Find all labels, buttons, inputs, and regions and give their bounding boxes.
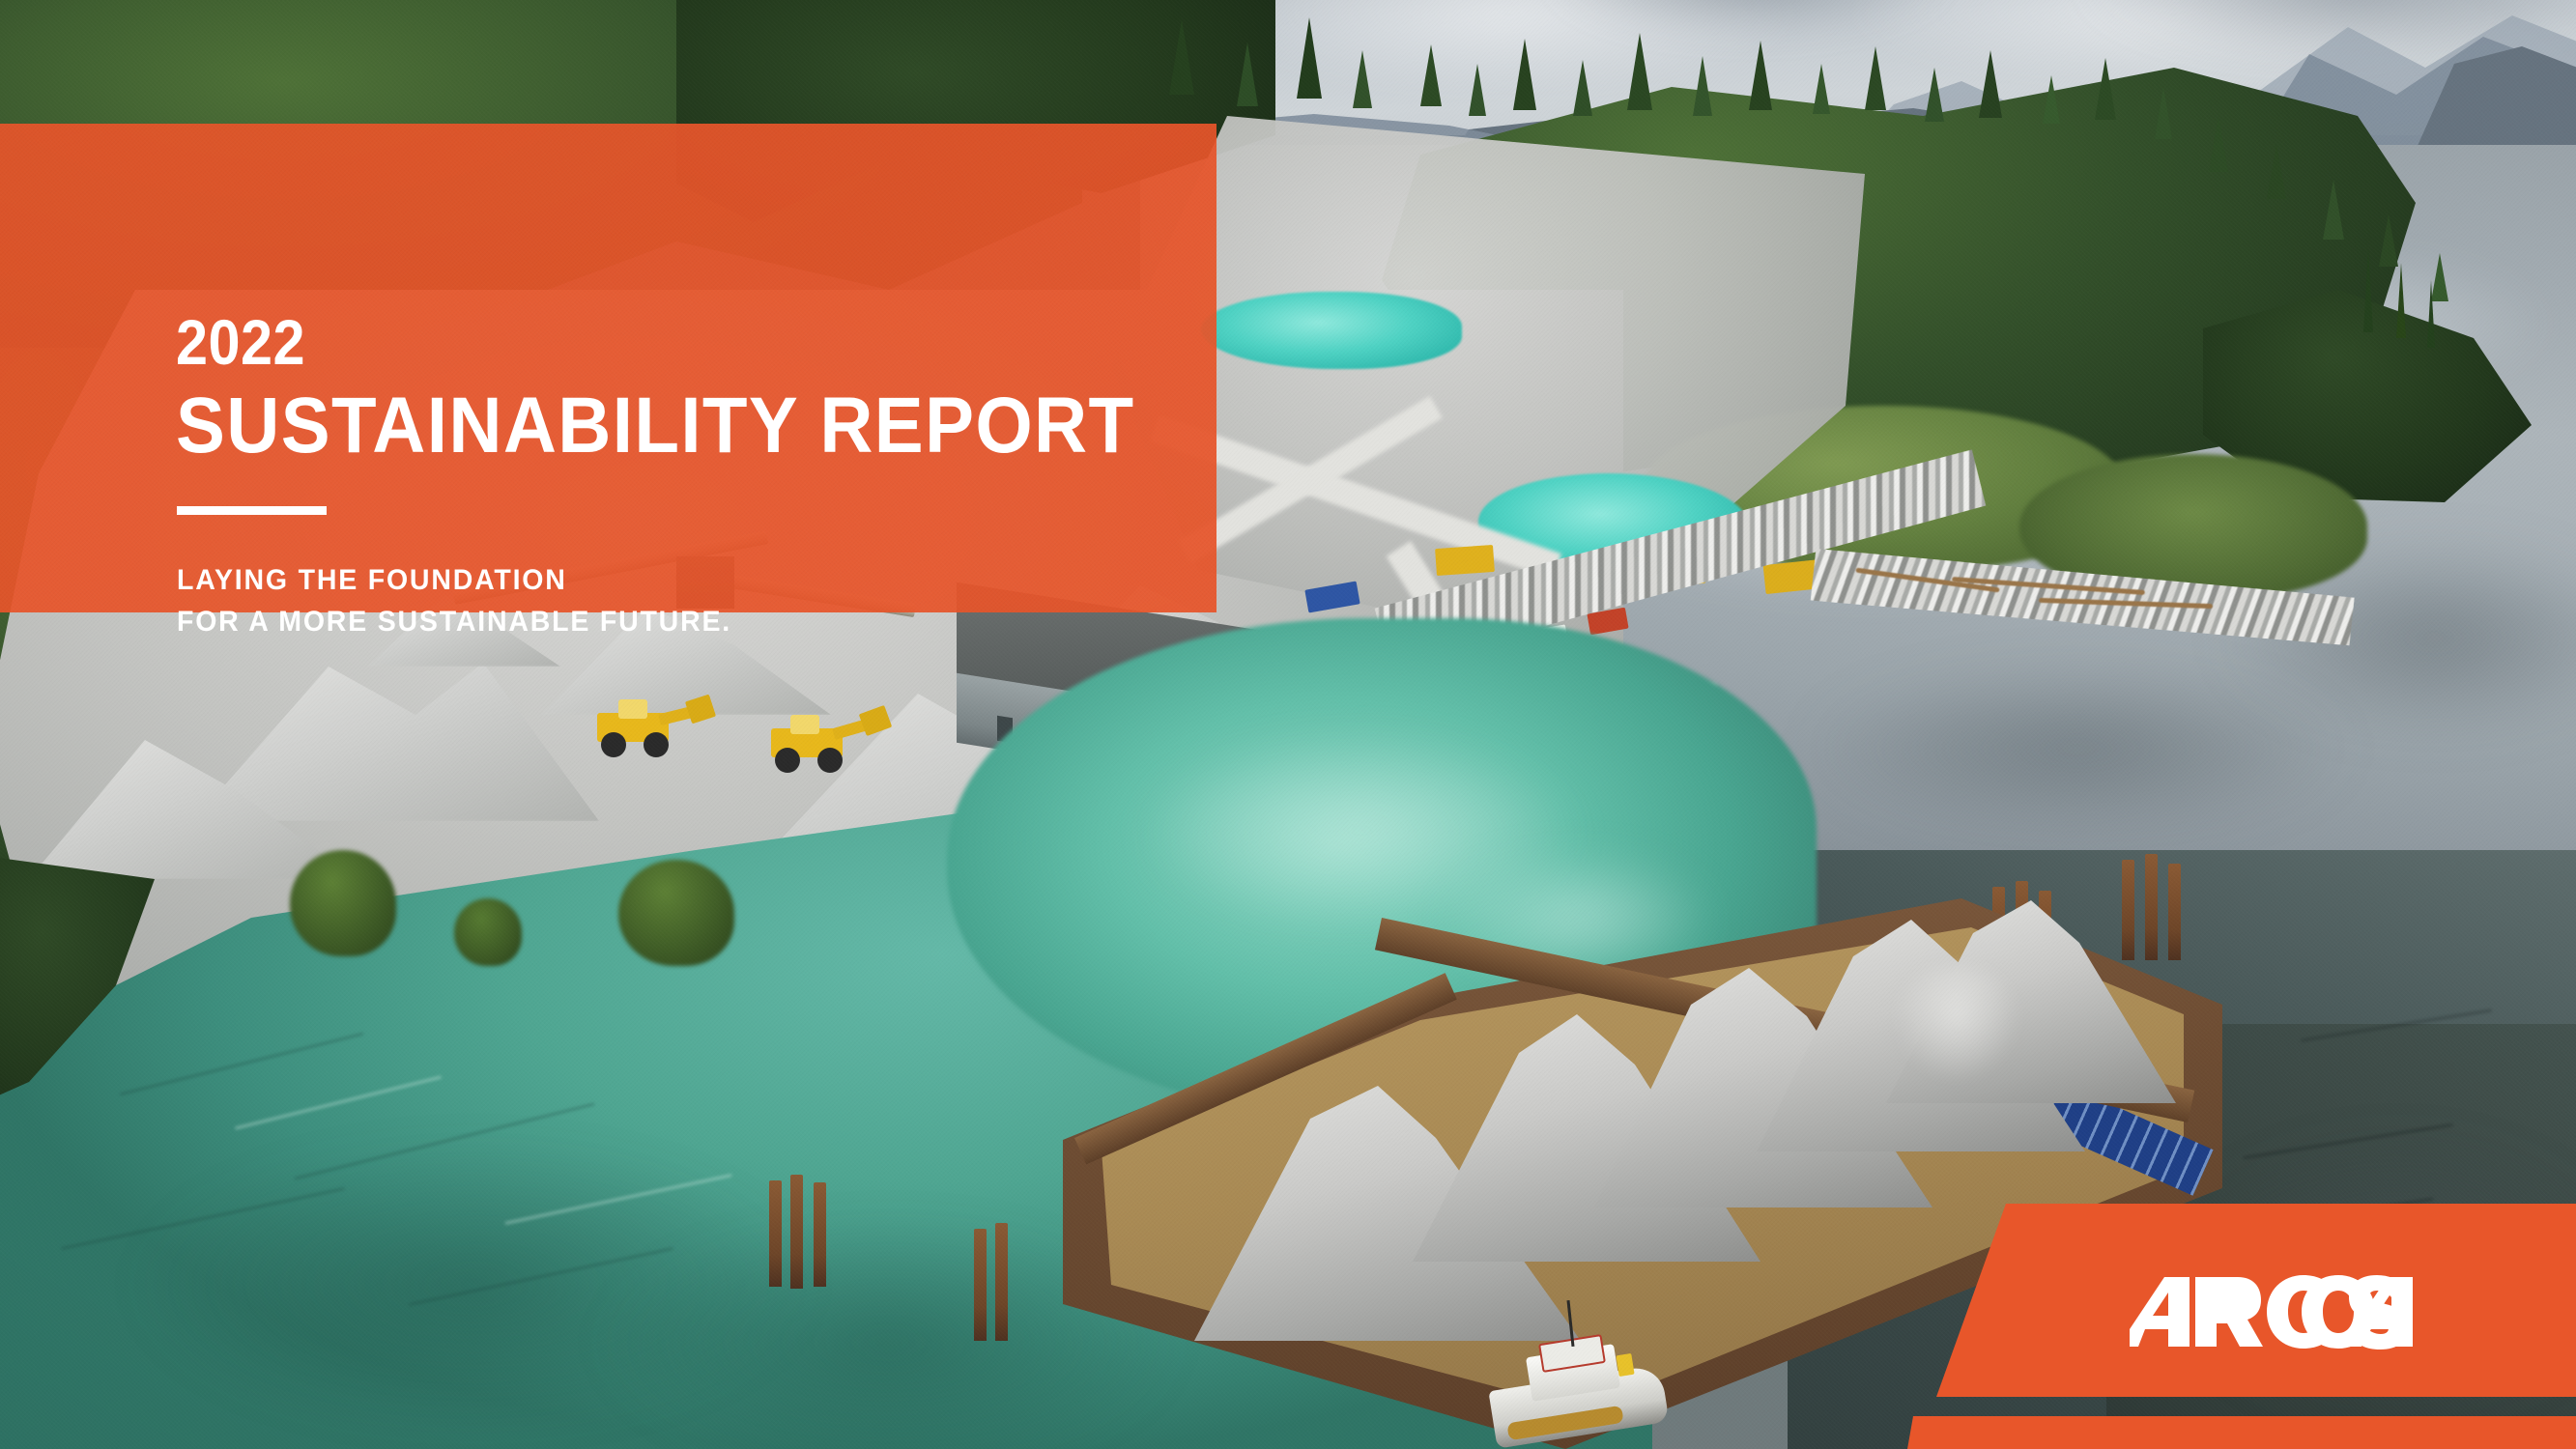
timber-piling	[2168, 864, 2181, 960]
report-headline: SUSTAINABILITY REPORT	[176, 386, 1134, 466]
conifer-tree	[1865, 46, 1886, 110]
haul-truck	[1435, 545, 1495, 576]
wheel-loader	[754, 713, 889, 775]
tugboat-fitting	[1616, 1353, 1634, 1377]
arcosa-wordmark	[2130, 1273, 2425, 1350]
loader-wheel	[775, 748, 800, 773]
loader-wheel	[601, 732, 626, 757]
report-year: 2022	[176, 310, 305, 374]
loader-cab	[790, 715, 819, 734]
conifer-tree	[1813, 64, 1830, 114]
timber-piling	[974, 1229, 987, 1341]
loader-cab	[618, 699, 647, 719]
conifer-tree	[1749, 41, 1772, 110]
loader-wheel	[644, 732, 669, 757]
loader-wheel	[817, 748, 843, 773]
shrub	[290, 850, 396, 956]
conifer-tree	[2267, 145, 2286, 199]
timber-piling	[2122, 860, 2134, 960]
report-cover: 2022 SUSTAINABILITY REPORT LAYING THE FO…	[0, 0, 2576, 1449]
conifer-tree	[1237, 43, 1258, 106]
conifer-tree	[1353, 50, 1372, 108]
conifer-tree	[1693, 56, 1712, 116]
report-tagline: LAYING THE FOUNDATION FOR A MORE SUSTAIN…	[177, 560, 731, 642]
timber-piling	[814, 1182, 826, 1287]
water-shadow	[1807, 667, 2348, 831]
conifer-tree	[2323, 180, 2344, 240]
dust-plume	[1894, 966, 2019, 1082]
title-block: 2022 SUSTAINABILITY REPORT LAYING THE FO…	[0, 124, 1216, 612]
conifer-tree	[1169, 19, 1194, 95]
timber-piling	[769, 1180, 782, 1287]
conifer-tree	[1925, 68, 1944, 122]
timber-piling	[2145, 854, 2158, 960]
conifer-tree	[1420, 44, 1442, 106]
settling-pond	[1201, 292, 1462, 369]
tugboat	[1486, 1321, 1670, 1439]
conifer-tree	[1297, 17, 1322, 99]
loader-bucket	[685, 695, 716, 724]
conifer-tree	[2427, 280, 2435, 348]
conifer-tree	[2379, 214, 2398, 267]
conifer-tree	[1627, 33, 1652, 110]
conifer-tree	[1469, 64, 1486, 116]
conifer-tree	[1979, 50, 2002, 118]
conifer-tree	[1513, 39, 1536, 110]
conifer-tree	[2396, 263, 2406, 338]
logo-accent-bar	[1894, 1416, 2576, 1449]
timber-piling	[995, 1223, 1008, 1341]
shrub	[618, 860, 734, 966]
conifer-tree	[2363, 249, 2373, 332]
title-divider-rule	[177, 506, 327, 515]
conifer-tree	[2095, 58, 2116, 120]
conifer-tree	[1573, 60, 1592, 116]
conifer-tree	[2043, 75, 2060, 124]
timber-piling	[790, 1175, 803, 1289]
shrub	[454, 898, 522, 966]
wheel-loader	[580, 697, 715, 759]
conifer-tree	[2209, 116, 2228, 172]
conifer-tree	[2155, 87, 2172, 139]
